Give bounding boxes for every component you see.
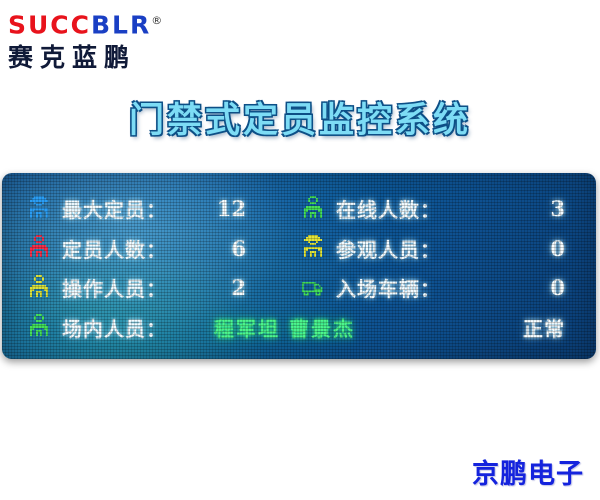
person-icon <box>302 196 324 222</box>
led-label-visitor-count: 参观人员： <box>336 234 441 263</box>
led-label-operator-count: 操作人员： <box>62 273 167 302</box>
led-label-staff-count: 定员人数： <box>62 234 167 263</box>
person-icon <box>28 235 50 261</box>
led-value-online-count: 3 <box>550 196 565 221</box>
led-row-operator-count: 操作人员： 2 <box>2 268 292 308</box>
led-value-onsite-names: 程军坦 曹景杰 <box>214 313 355 342</box>
brand-wordmark-red: SUCC <box>8 10 91 39</box>
led-label-vehicle-count: 入场车辆： <box>336 273 441 302</box>
led-label-online-count: 在线人数： <box>336 194 441 223</box>
brand-wordmark-blue: BLR <box>91 10 151 39</box>
page-title: 门禁式定员监控系统 <box>0 92 600 143</box>
led-label-onsite-personnel: 场内人员： <box>62 313 167 342</box>
led-row-online-count: 在线人数： 3 <box>292 189 596 229</box>
person-icon <box>28 314 50 340</box>
truck-icon <box>302 275 324 301</box>
led-readout-grid: 最大定员： 12 在线人数： 3 <box>2 173 596 359</box>
person-hardhat-icon <box>302 235 324 261</box>
led-row-onsite-personnel: 场内人员： 程军坦 曹景杰 正常 <box>2 308 596 348</box>
led-value-vehicle-count: 0 <box>550 275 565 300</box>
led-value-max-capacity: 12 <box>217 196 246 221</box>
person-hardhat-icon <box>28 196 50 222</box>
led-value-staff-count: 6 <box>231 236 246 261</box>
person-icon <box>28 275 50 301</box>
brand-logo: SUCCBLR® 赛克蓝鹏 <box>8 6 218 76</box>
status-badge: 正常 <box>523 313 565 342</box>
brand-wordmark: SUCCBLR® <box>8 6 218 40</box>
registered-trademark-icon: ® <box>151 14 162 27</box>
brand-chinese-name: 赛克蓝鹏 <box>8 41 218 75</box>
led-label-max-capacity: 最大定员： <box>62 194 167 223</box>
led-row-visitor-count: 参观人员： 0 <box>292 229 596 269</box>
led-value-visitor-count: 0 <box>550 236 565 261</box>
led-value-operator-count: 2 <box>231 275 246 300</box>
footer-company-mark: 京鹏电子 <box>472 452 584 491</box>
led-row-vehicle-count: 入场车辆： 0 <box>292 268 596 308</box>
led-row-max-capacity: 最大定员： 12 <box>2 189 292 229</box>
led-display-panel: 最大定员： 12 在线人数： 3 <box>2 173 596 359</box>
led-row-staff-count: 定员人数： 6 <box>2 229 292 269</box>
